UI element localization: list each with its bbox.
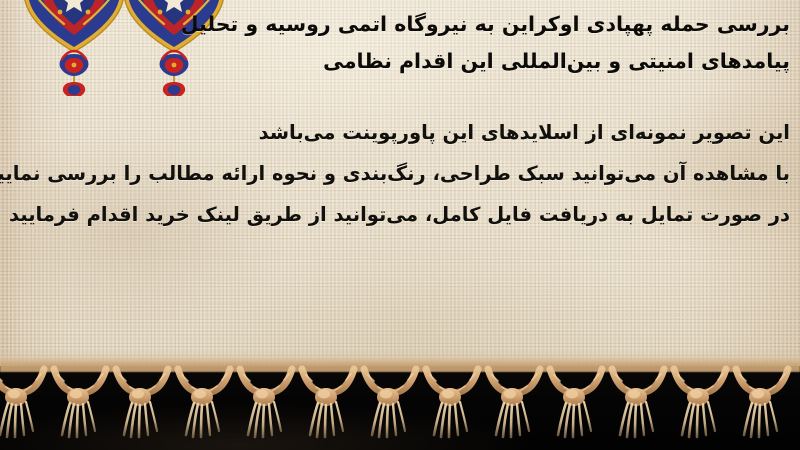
slide-title: بررسی حمله پهپادی اوکراین به نیروگاه اتم… — [230, 6, 790, 80]
slide-text-layer: بررسی حمله پهپادی اوکراین به نیروگاه اتم… — [0, 0, 800, 370]
carpet-fringe — [0, 355, 800, 450]
tassel-10 — [550, 369, 602, 437]
tassel-13 — [736, 369, 788, 437]
tassel-5 — [240, 369, 292, 437]
body-line-2: با مشاهده آن می‌توانید سبک طراحی، رنگ‌بن… — [8, 153, 790, 194]
body-line-3: در صورت تمایل به دریافت فایل کامل، می‌تو… — [8, 194, 790, 235]
title-line-2: پیامدهای امنیتی و بین‌المللی این اقدام ن… — [230, 43, 790, 80]
body-line-1: این تصویر نمونه‌ای از اسلایدهای این پاور… — [8, 112, 790, 153]
tassel-7 — [364, 369, 416, 437]
tassel-12 — [674, 369, 726, 437]
slide-canvas: بررسی حمله پهپادی اوکراین به نیروگاه اتم… — [0, 0, 800, 450]
tassel-3 — [116, 369, 168, 437]
tassel-1 — [0, 369, 44, 437]
tassel-9 — [488, 369, 540, 437]
tassel-4 — [178, 369, 230, 437]
fringe-tassels — [0, 355, 800, 450]
slide-body: این تصویر نمونه‌ای از اسلایدهای این پاور… — [8, 112, 790, 235]
tassel-6 — [302, 369, 354, 437]
tassel-2 — [54, 369, 106, 437]
title-line-1: بررسی حمله پهپادی اوکراین به نیروگاه اتم… — [230, 6, 790, 43]
tassel-11 — [612, 369, 664, 437]
tassel-8 — [426, 369, 478, 437]
